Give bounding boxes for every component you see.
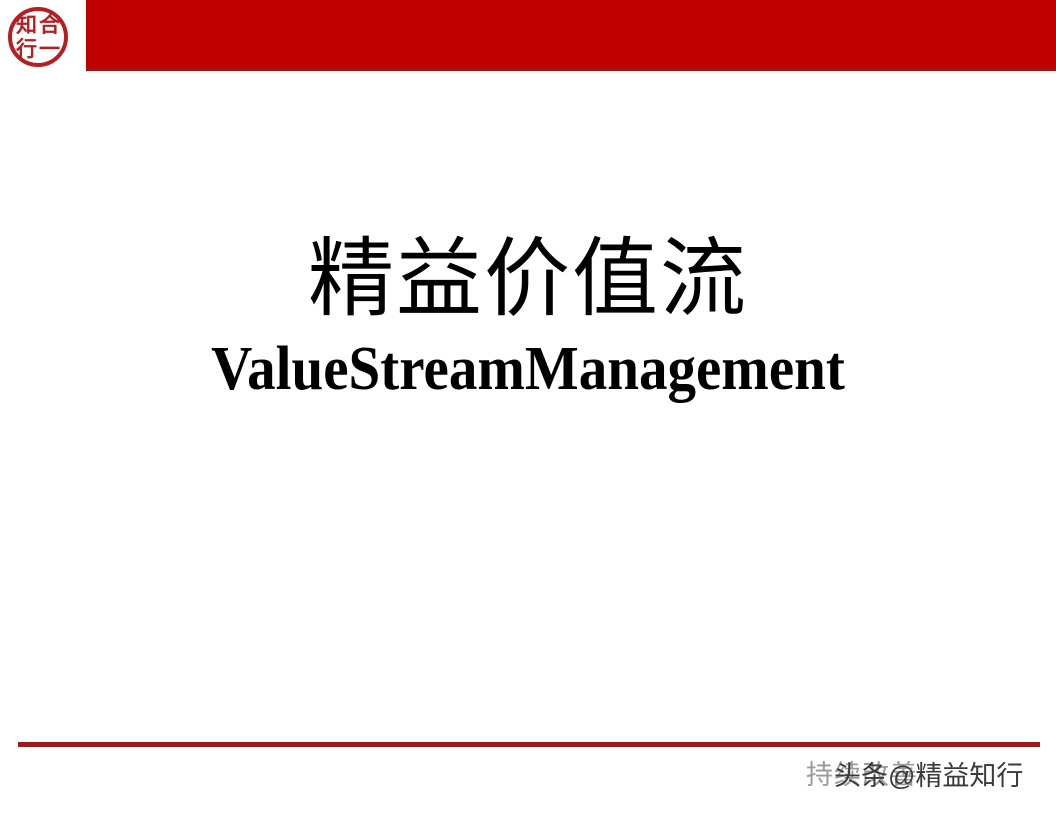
header-band	[86, 0, 1056, 68]
seal-char-zhi: 知	[16, 15, 37, 36]
seal-char-yi: 一	[39, 39, 60, 60]
watermark-group: 持续改善 头条@精益知行	[796, 757, 1046, 799]
slide-title-english: ValueStreamManagement	[42, 337, 1014, 402]
watermark-account-handle: 头条@精益知行	[834, 763, 1023, 790]
seal-character-grid: 知 合 行 一	[15, 13, 61, 61]
seal-char-xing: 行	[16, 39, 37, 60]
slide-canvas: 知 合 行 一 精益价值流 ValueStreamManagement 持续改善…	[0, 0, 1056, 816]
company-seal-logo: 知 合 行 一	[8, 7, 68, 67]
header-band-bottom-edge	[86, 68, 1056, 71]
seal-char-he: 合	[39, 15, 60, 36]
title-block: 精益价值流 ValueStreamManagement	[0, 232, 1056, 402]
slide-title-chinese: 精益价值流	[0, 232, 1056, 327]
footer-divider-rule	[18, 742, 1040, 747]
